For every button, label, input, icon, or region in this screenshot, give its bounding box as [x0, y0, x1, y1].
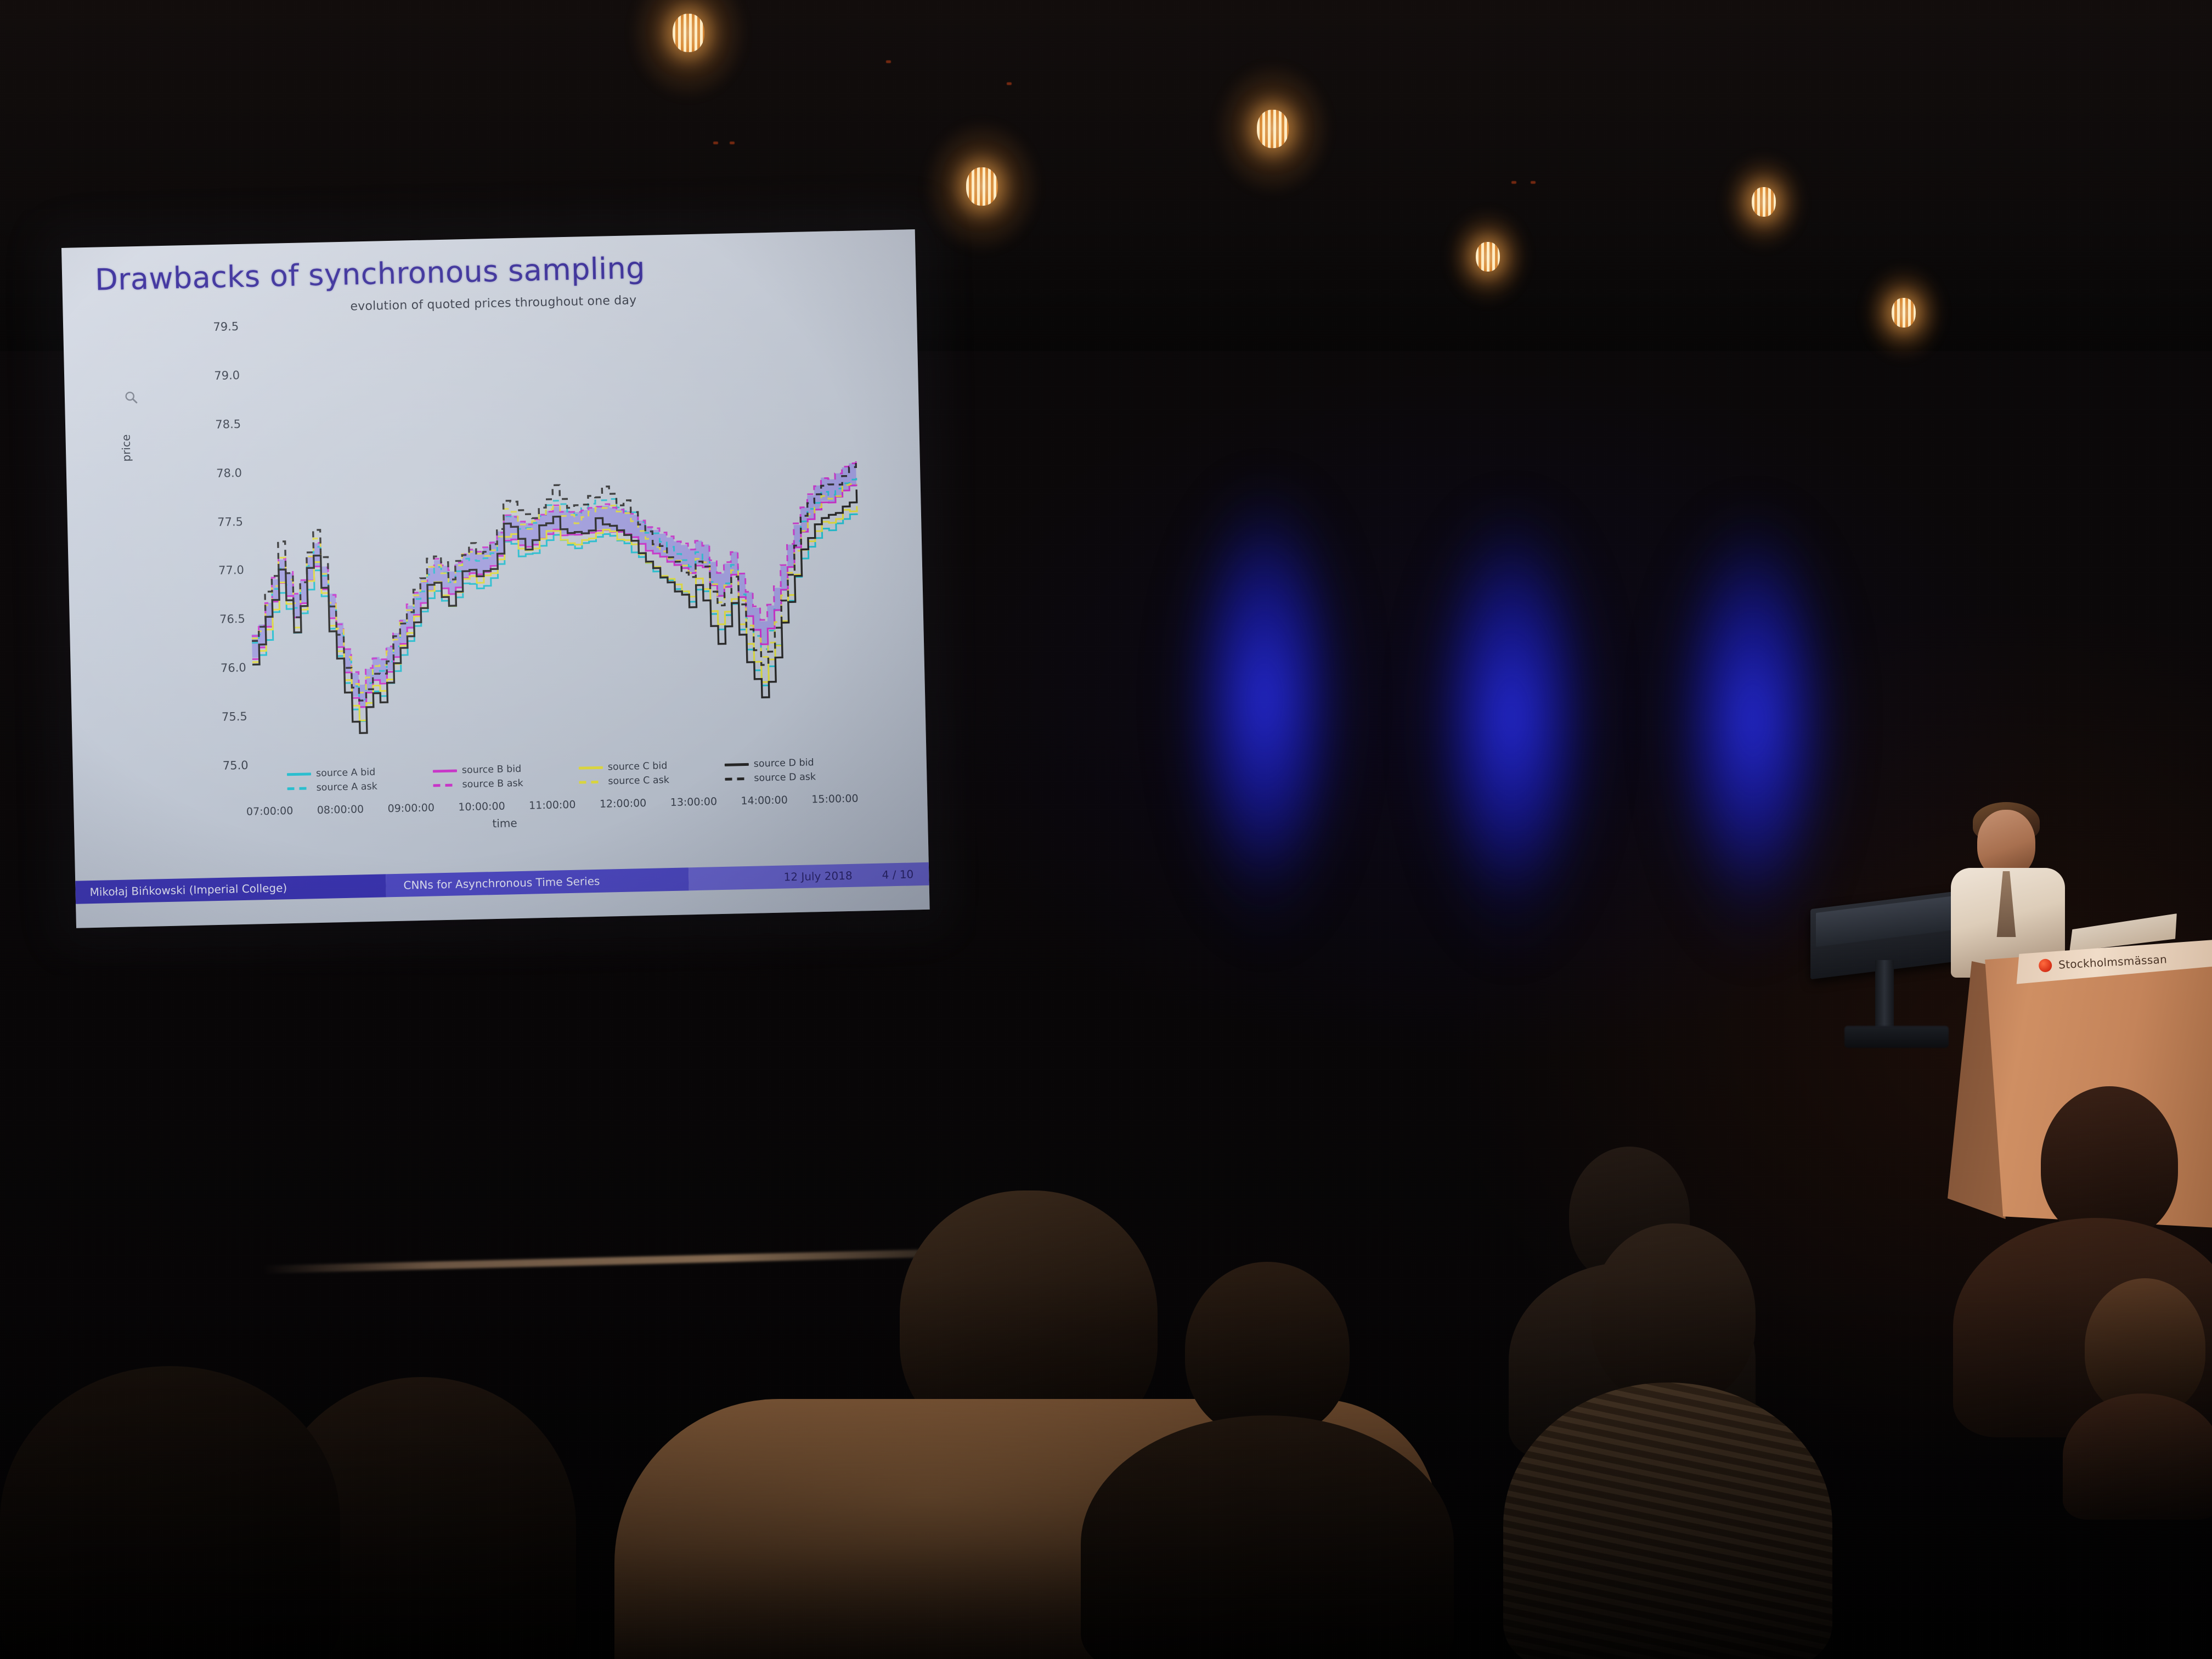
- chart-legend-swatch: [579, 780, 603, 783]
- slide-surface: Drawbacks of synchronous sampling evolut…: [61, 229, 930, 928]
- chart-legend-label: source C ask: [608, 775, 669, 787]
- footer-talk-title: CNNs for Asynchronous Time Series: [386, 867, 689, 897]
- chart-legend-item: source B bid: [433, 763, 577, 777]
- chart-legend-swatch: [287, 787, 312, 790]
- ceiling-indicator-speck: [886, 60, 891, 63]
- chart-x-tick: 07:00:00: [246, 805, 294, 818]
- chart-y-tick: 77.0: [218, 563, 244, 577]
- chart-legend-item: source A ask: [287, 780, 431, 794]
- chart-legend-item: source A bid: [287, 766, 431, 780]
- conference-talk-photo: Drawbacks of synchronous sampling evolut…: [0, 0, 2212, 1659]
- chart-y-tick: 78.0: [216, 466, 242, 480]
- chart-legend-swatch: [725, 777, 749, 780]
- chart-series-line: [248, 459, 860, 687]
- footer-date: 12 July 2018: [783, 869, 853, 884]
- chart-legend-item: source B ask: [433, 777, 577, 791]
- chart-legend-item: source D ask: [725, 770, 868, 785]
- chart-y-tick: 75.0: [223, 759, 249, 772]
- chart-legend-label: source A ask: [316, 781, 377, 793]
- chart-legend-label: source D ask: [754, 771, 816, 783]
- chart-legend-swatch: [433, 769, 457, 772]
- chart-y-tick: 79.0: [214, 369, 240, 382]
- chart-legend-swatch: [579, 766, 603, 769]
- chart-legend-label: source D bid: [754, 757, 814, 769]
- chart-y-tick: 79.5: [213, 320, 239, 334]
- chart-y-tick: 76.0: [221, 661, 246, 675]
- chart-legend-item: source D bid: [725, 756, 868, 770]
- chart-y-tick: 75.5: [222, 710, 247, 724]
- footer-page-number: 4 / 10: [882, 867, 913, 881]
- stage-light-wash-center: [1393, 505, 1629, 1064]
- chart-legend-swatch: [725, 763, 749, 766]
- audience-member: [1059, 1262, 1454, 1659]
- ceiling-indicator-speck: [730, 142, 735, 144]
- chart-y-axis-label: price: [119, 434, 133, 461]
- circle-logo-icon: [2039, 958, 2052, 972]
- chart-legend-label: source A bid: [316, 767, 376, 779]
- projection-screen: Drawbacks of synchronous sampling evolut…: [61, 229, 930, 928]
- slide-footer: Mikołaj Bińkowski (Imperial College) CNN…: [75, 862, 929, 904]
- magnifier-icon: [124, 390, 139, 405]
- presenter: [1944, 795, 2070, 977]
- monitor-base: [1844, 1026, 1949, 1048]
- chart-y-tick: 77.5: [217, 515, 243, 528]
- audience-member: [0, 1333, 340, 1659]
- stage-light-wash-left: [1149, 483, 1380, 1053]
- chart-y-tick: 76.5: [219, 612, 245, 626]
- podium-brand-label: Stockholmsmässan: [2058, 952, 2168, 971]
- chart-legend-label: source B bid: [462, 764, 522, 776]
- footer-author: Mikołaj Bińkowski (Imperial College): [75, 874, 386, 904]
- chart-plot-area: [241, 313, 876, 765]
- footer-meta: 12 July 2018 4 / 10: [689, 862, 929, 891]
- chart-legend-column: source D bidsource D ask: [725, 756, 870, 809]
- chart-legend-swatch: [287, 772, 311, 776]
- chart-y-tick: 78.5: [215, 417, 241, 431]
- chart-legend-label: source C bid: [608, 760, 668, 772]
- chart-legend-item: source C bid: [579, 759, 723, 774]
- ceiling-indicator-speck: [1007, 82, 1012, 85]
- audience-member: [1492, 1223, 1843, 1659]
- chart-legend-column: source B bidsource B ask: [433, 763, 578, 815]
- chart: evolution of quoted prices throughout on…: [112, 281, 886, 835]
- chart-legend-column: source C bidsource C ask: [579, 759, 724, 812]
- chart-legend: source A bidsource A asksource B bidsour…: [287, 756, 870, 818]
- ceiling-indicator-speck: [1511, 181, 1516, 184]
- ceiling-indicator-speck: [1531, 181, 1536, 184]
- chart-legend-column: source A bidsource A ask: [287, 766, 432, 819]
- audience-member: [2063, 1278, 2212, 1509]
- monitor-stem: [1875, 960, 1894, 1031]
- ceiling-indicator-speck: [713, 142, 718, 144]
- chart-legend-swatch: [433, 783, 457, 787]
- chart-legend-label: source B ask: [462, 778, 523, 790]
- monitor-screen: [1816, 895, 1959, 947]
- chart-legend-item: source C ask: [579, 774, 723, 788]
